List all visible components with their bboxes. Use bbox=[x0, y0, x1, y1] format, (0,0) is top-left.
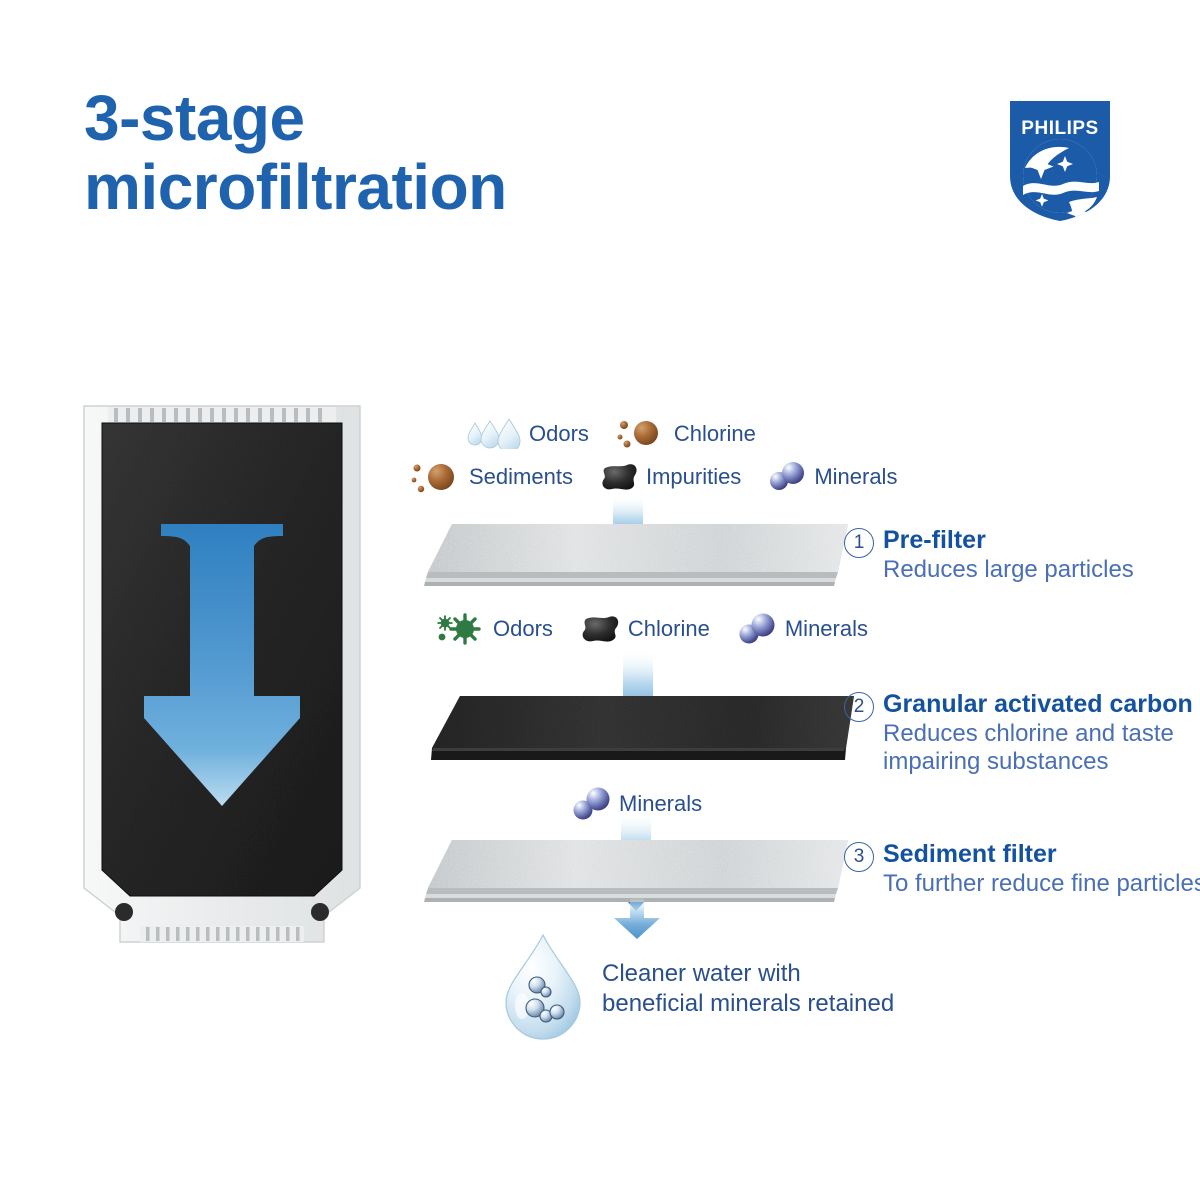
result-caption-line-1: Cleaner water with bbox=[602, 959, 894, 989]
contaminant-row-1: Odors Chlorine bbox=[464, 418, 756, 450]
contaminant-label-sediments: Sediments bbox=[469, 464, 573, 490]
stage-2-description-line-1: Reduces chlorine and taste bbox=[883, 720, 1193, 748]
result-caption-line-2: beneficial minerals retained bbox=[602, 989, 894, 1019]
stage-2-text: 2 Granular activated carbon Reduces chlo… bbox=[844, 690, 1193, 776]
brown-particles-icon bbox=[615, 418, 667, 450]
page-title-line-1: 3-stage bbox=[84, 84, 724, 153]
water-filter-cartridge bbox=[78, 396, 366, 954]
result-block: Cleaner water with beneficial minerals r… bbox=[500, 932, 894, 1045]
stage-3-text: 3 Sediment filter To further reduce fine… bbox=[844, 840, 1200, 898]
result-caption: Cleaner water with beneficial minerals r… bbox=[602, 959, 894, 1019]
stage-2-number: 2 bbox=[844, 692, 874, 722]
page-title-line-2: microfiltration bbox=[84, 153, 724, 222]
mineral-spheres-icon bbox=[767, 461, 807, 493]
contaminant-row-2: Sediments Impurities Minerals bbox=[410, 460, 897, 494]
vent-slots-bottom bbox=[140, 926, 304, 942]
philips-shield-logo: PHILIPS bbox=[1007, 98, 1113, 224]
stage-2-incoming-row: Odors Chlorine Minerals bbox=[434, 612, 868, 646]
contaminant-label-impurities: Impurities bbox=[646, 464, 741, 490]
mineral-spheres-icon bbox=[736, 612, 778, 646]
stage-1-number: 1 bbox=[844, 528, 874, 558]
stage-1-description: Reduces large particles bbox=[883, 556, 1134, 584]
contaminant-label-odors: Odors bbox=[529, 421, 589, 447]
contaminant-label-chlorine: Chlorine bbox=[674, 421, 756, 447]
slab-granular-activated-carbon bbox=[428, 692, 858, 773]
stage-3-number: 3 bbox=[844, 842, 874, 872]
dark-blob-icon bbox=[579, 614, 621, 644]
slab-pre-filter bbox=[424, 518, 854, 595]
stage-2-incoming-odors: Odors bbox=[493, 616, 553, 642]
water-droplets-icon bbox=[464, 419, 522, 449]
stage-3-heading: Sediment filter bbox=[883, 840, 1200, 870]
stage-2-heading: Granular activated carbon bbox=[883, 690, 1193, 720]
vent-slots-top bbox=[108, 407, 336, 423]
stage-1-heading: Pre-filter bbox=[883, 526, 1134, 556]
green-microbe-icon bbox=[434, 612, 486, 646]
stage-3-description: To further reduce fine particles bbox=[883, 870, 1200, 898]
stage-1-text: 1 Pre-filter Reduces large particles bbox=[844, 526, 1134, 584]
water-droplet-with-minerals-icon bbox=[500, 932, 586, 1045]
dark-blob-icon bbox=[599, 462, 639, 492]
stage-2-description-line-2: impairing substances bbox=[883, 748, 1193, 776]
page-title: 3-stage microfiltration bbox=[84, 84, 724, 222]
stage-2-incoming-chlorine: Chlorine bbox=[628, 616, 710, 642]
contaminant-label-minerals: Minerals bbox=[814, 464, 897, 490]
brown-particles-icon bbox=[410, 460, 462, 494]
philips-wordmark: PHILIPS bbox=[1021, 118, 1098, 139]
stage-2-incoming-minerals: Minerals bbox=[785, 616, 868, 642]
